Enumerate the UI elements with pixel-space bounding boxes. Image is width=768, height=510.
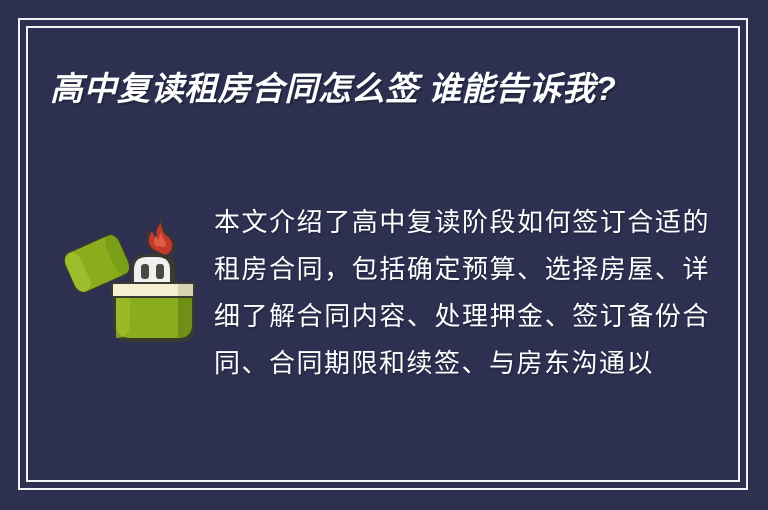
- article-body: 本文介绍了高中复读阶段如何签订合适的租房合同，包括确定预算、选择房屋、详细了解合…: [50, 200, 710, 388]
- flame-icon: [145, 217, 176, 260]
- lighter-band-icon: [111, 282, 195, 298]
- lighter-icon: [50, 208, 200, 348]
- lighter-illustration: [50, 200, 200, 348]
- article-card: 高中复读租房合同怎么签 谁能告诉我?: [0, 0, 768, 510]
- article-summary: 本文介绍了高中复读阶段如何签订合适的租房合同，包括确定预算、选择房屋、详细了解合…: [214, 200, 710, 388]
- lighter-tank-icon: [113, 298, 195, 342]
- page-title: 高中复读租房合同怎么签 谁能告诉我?: [50, 66, 690, 112]
